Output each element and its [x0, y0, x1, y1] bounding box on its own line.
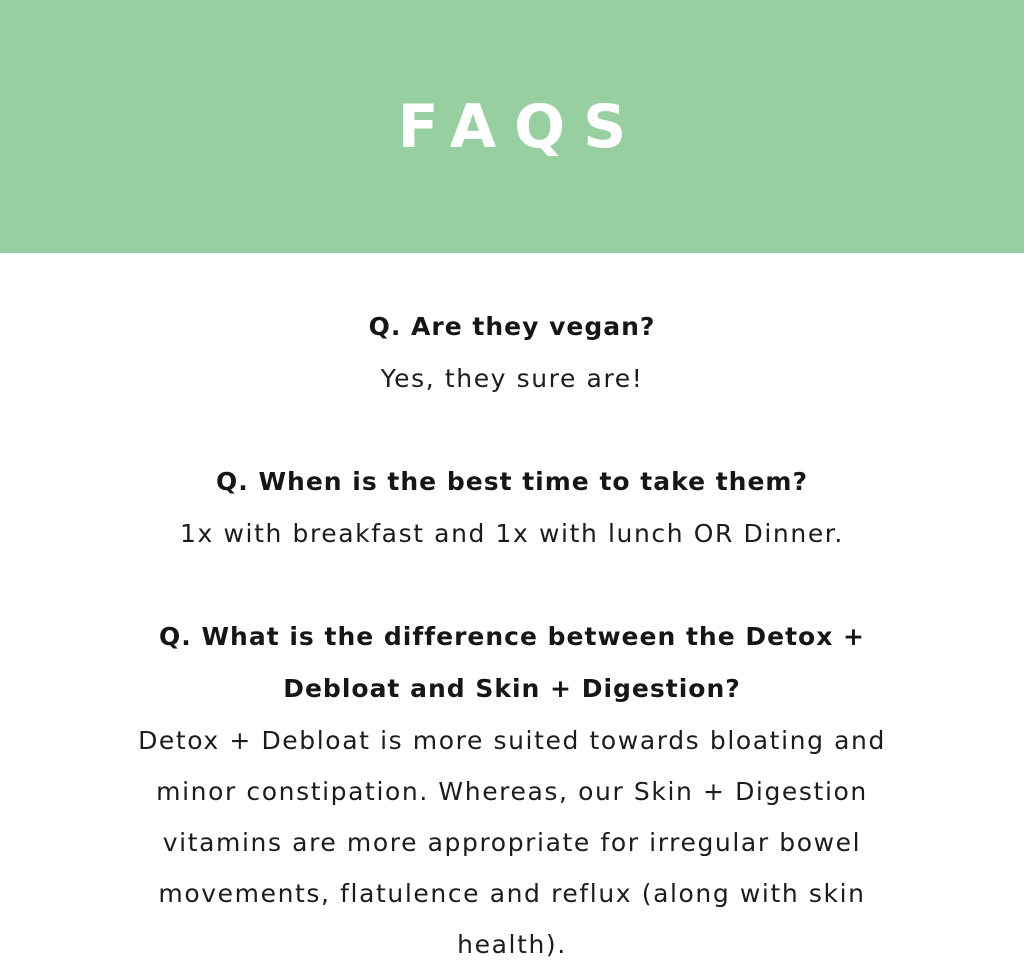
faq-page: FAQS Q. Are they vegan? Yes, they sure a…	[0, 0, 1024, 956]
faq-question: Q. Are they vegan?	[132, 301, 892, 353]
faq-answer: Yes, they sure are!	[97, 353, 927, 404]
page-header-banner: FAQS	[0, 0, 1024, 253]
page-title: FAQS	[380, 97, 645, 157]
faq-item: Q. Are they vegan? Yes, they sure are!	[0, 301, 1024, 404]
faq-list: Q. Are they vegan? Yes, they sure are! Q…	[0, 253, 1024, 956]
faq-answer: 1x with breakfast and 1x with lunch OR D…	[97, 508, 927, 559]
faq-item: Q. When is the best time to take them? 1…	[0, 456, 1024, 559]
faq-question: Q. When is the best time to take them?	[132, 456, 892, 508]
faq-question: Q. What is the difference between the De…	[132, 611, 892, 715]
faq-item: Q. What is the difference between the De…	[0, 611, 1024, 970]
faq-answer: Detox + Debloat is more suited towards b…	[102, 715, 922, 970]
